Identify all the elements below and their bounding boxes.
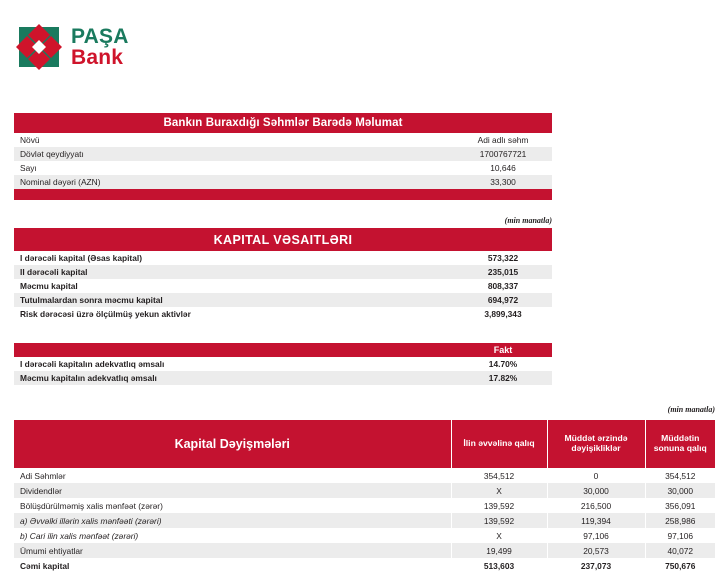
changes-unit-note: (min manatla) — [14, 405, 715, 414]
row-label: Məcmu kapitalın adekvatlıq əmsalı — [14, 371, 454, 385]
row-label: Məcmu kapital — [14, 279, 454, 293]
row-change: 97,106 — [547, 528, 645, 543]
row-value: 1700767721 — [454, 147, 552, 161]
capital-funds-table: KAPITAL VƏSAITLƏRI I dərəcəli kapital (Ə… — [14, 228, 552, 321]
row-value: 694,972 — [454, 293, 552, 307]
footer-band-fill — [14, 189, 552, 200]
changes-header-opening: İlin əvvəlinə qalıq — [451, 420, 547, 468]
row-label: Nominal dəyəri (AZN) — [14, 175, 454, 189]
row-label: II dərəcəli kapital — [14, 265, 454, 279]
row-opening: 354,512 — [451, 468, 547, 483]
row-label: I dərəcəli kapital (Əsas kapital) — [14, 251, 454, 265]
capital-changes-table: Kapital Dəyişmələri İlin əvvəlinə qalıq … — [14, 420, 715, 573]
table-row: I dərəcəli kapital (Əsas kapital) 573,32… — [14, 251, 552, 265]
row-opening: X — [451, 483, 547, 498]
row-label: Dövlət qeydiyyatı — [14, 147, 454, 161]
row-value: Adi adlı səhm — [454, 133, 552, 147]
row-label: I dərəcəli kapitalın adekvatlıq əmsalı — [14, 357, 454, 371]
row-change: 119,394 — [547, 513, 645, 528]
row-closing: 354,512 — [645, 468, 715, 483]
table-header-row: KAPITAL VƏSAITLƏRI — [14, 228, 552, 251]
row-change: 237,073 — [547, 558, 645, 573]
row-label: Bölüşdürülməmiş xalis mənfəət (zərər) — [14, 498, 451, 513]
brand-name-line1: PAŞA — [71, 26, 129, 47]
table-footer-band — [14, 189, 552, 200]
table-row: Dövlət qeydiyyatı 1700767721 — [14, 147, 552, 161]
brand-wordmark: PAŞA Bank — [71, 26, 129, 69]
row-value: 573,322 — [454, 251, 552, 265]
table-row: Ümumi ehtiyatlar 19,499 20,573 40,072 — [14, 543, 715, 558]
row-value: 17.82% — [454, 371, 552, 385]
row-opening: 139,592 — [451, 513, 547, 528]
table-row: II dərəcəli kapital 235,015 — [14, 265, 552, 279]
row-opening: 139,592 — [451, 498, 547, 513]
row-value: 14.70% — [454, 357, 552, 371]
table-row: Adi Səhmlər 354,512 0 354,512 — [14, 468, 715, 483]
row-change: 0 — [547, 468, 645, 483]
table-header-row: Kapital Dəyişmələri İlin əvvəlinə qalıq … — [14, 420, 715, 468]
table-row: Risk dərəcəsi üzrə ölçülmüş yekun aktivl… — [14, 307, 552, 321]
row-change: 20,573 — [547, 543, 645, 558]
table-row: Növü Adi adlı səhm — [14, 133, 552, 147]
table-row: Məcmu kapitalın adekvatlıq əmsalı 17.82% — [14, 371, 552, 385]
row-closing: 258,986 — [645, 513, 715, 528]
row-value: 808,337 — [454, 279, 552, 293]
changes-header-main: Kapital Dəyişmələri — [14, 420, 451, 468]
row-value: 3,899,343 — [454, 307, 552, 321]
row-change: 30,000 — [547, 483, 645, 498]
row-change: 216,500 — [547, 498, 645, 513]
row-closing: 356,091 — [645, 498, 715, 513]
document-page: PAŞA Bank Bankın Buraxdığı Səhmlər Barəd… — [0, 0, 728, 580]
row-value: 235,015 — [454, 265, 552, 279]
row-closing: 40,072 — [645, 543, 715, 558]
brand-logo: PAŞA Bank — [16, 24, 129, 70]
adequacy-ratios-table: Fakt I dərəcəli kapitalın adekvatlıq əms… — [14, 343, 552, 385]
row-label: Adi Səhmlər — [14, 468, 451, 483]
row-value: 33,300 — [454, 175, 552, 189]
changes-header-change: Müddət ərzində dəyişikliklər — [547, 420, 645, 468]
table-row: Bölüşdürülməmiş xalis mənfəət (zərər) 13… — [14, 498, 715, 513]
table-row: I dərəcəli kapitalın adekvatlıq əmsalı 1… — [14, 357, 552, 371]
table-row: Cəmi kapital 513,603 237,073 750,676 — [14, 558, 715, 573]
row-opening: X — [451, 528, 547, 543]
capital-table-title: KAPITAL VƏSAITLƏRI — [14, 228, 552, 251]
table-row: Tutulmalardan sonra məcmu kapital 694,97… — [14, 293, 552, 307]
row-value: 10,646 — [454, 161, 552, 175]
row-label: b) Cari ilin xalis mənfəət (zərəri) — [14, 528, 451, 543]
shares-table-title: Bankın Buraxdığı Səhmlər Barədə Məlumat — [14, 113, 552, 133]
changes-header-closing: Müddətin sonuna qalıq — [645, 420, 715, 468]
shares-info-table: Bankın Buraxdığı Səhmlər Barədə Məlumat … — [14, 113, 552, 200]
row-closing: 750,676 — [645, 558, 715, 573]
brand-name-line2: Bank — [71, 47, 129, 68]
row-closing: 97,106 — [645, 528, 715, 543]
row-label: Risk dərəcəsi üzrə ölçülmüş yekun aktivl… — [14, 307, 454, 321]
row-label: Ümumi ehtiyatlar — [14, 543, 451, 558]
table-row: Sayı 10,646 — [14, 161, 552, 175]
pasha-pinwheel-logo-icon — [16, 24, 62, 70]
adequacy-header-fakt: Fakt — [454, 343, 552, 357]
row-label: Növü — [14, 133, 454, 147]
table-header-row: Fakt — [14, 343, 552, 357]
row-label: a) Əvvəlki illərin xalis mənfəəti (zərər… — [14, 513, 451, 528]
table-row: a) Əvvəlki illərin xalis mənfəəti (zərər… — [14, 513, 715, 528]
adequacy-header-blank — [14, 343, 454, 357]
row-label: Tutulmalardan sonra məcmu kapital — [14, 293, 454, 307]
row-label: Sayı — [14, 161, 454, 175]
row-opening: 513,603 — [451, 558, 547, 573]
row-label: Dividendlər — [14, 483, 451, 498]
table-row: Dividendlər X 30,000 30,000 — [14, 483, 715, 498]
row-closing: 30,000 — [645, 483, 715, 498]
table-row: Məcmu kapital 808,337 — [14, 279, 552, 293]
row-label: Cəmi kapital — [14, 558, 451, 573]
row-opening: 19,499 — [451, 543, 547, 558]
capital-unit-note: (min manatla) — [14, 216, 552, 225]
table-row: Nominal dəyəri (AZN) 33,300 — [14, 175, 552, 189]
table-header-row: Bankın Buraxdığı Səhmlər Barədə Məlumat — [14, 113, 552, 133]
table-row: b) Cari ilin xalis mənfəət (zərəri) X 97… — [14, 528, 715, 543]
